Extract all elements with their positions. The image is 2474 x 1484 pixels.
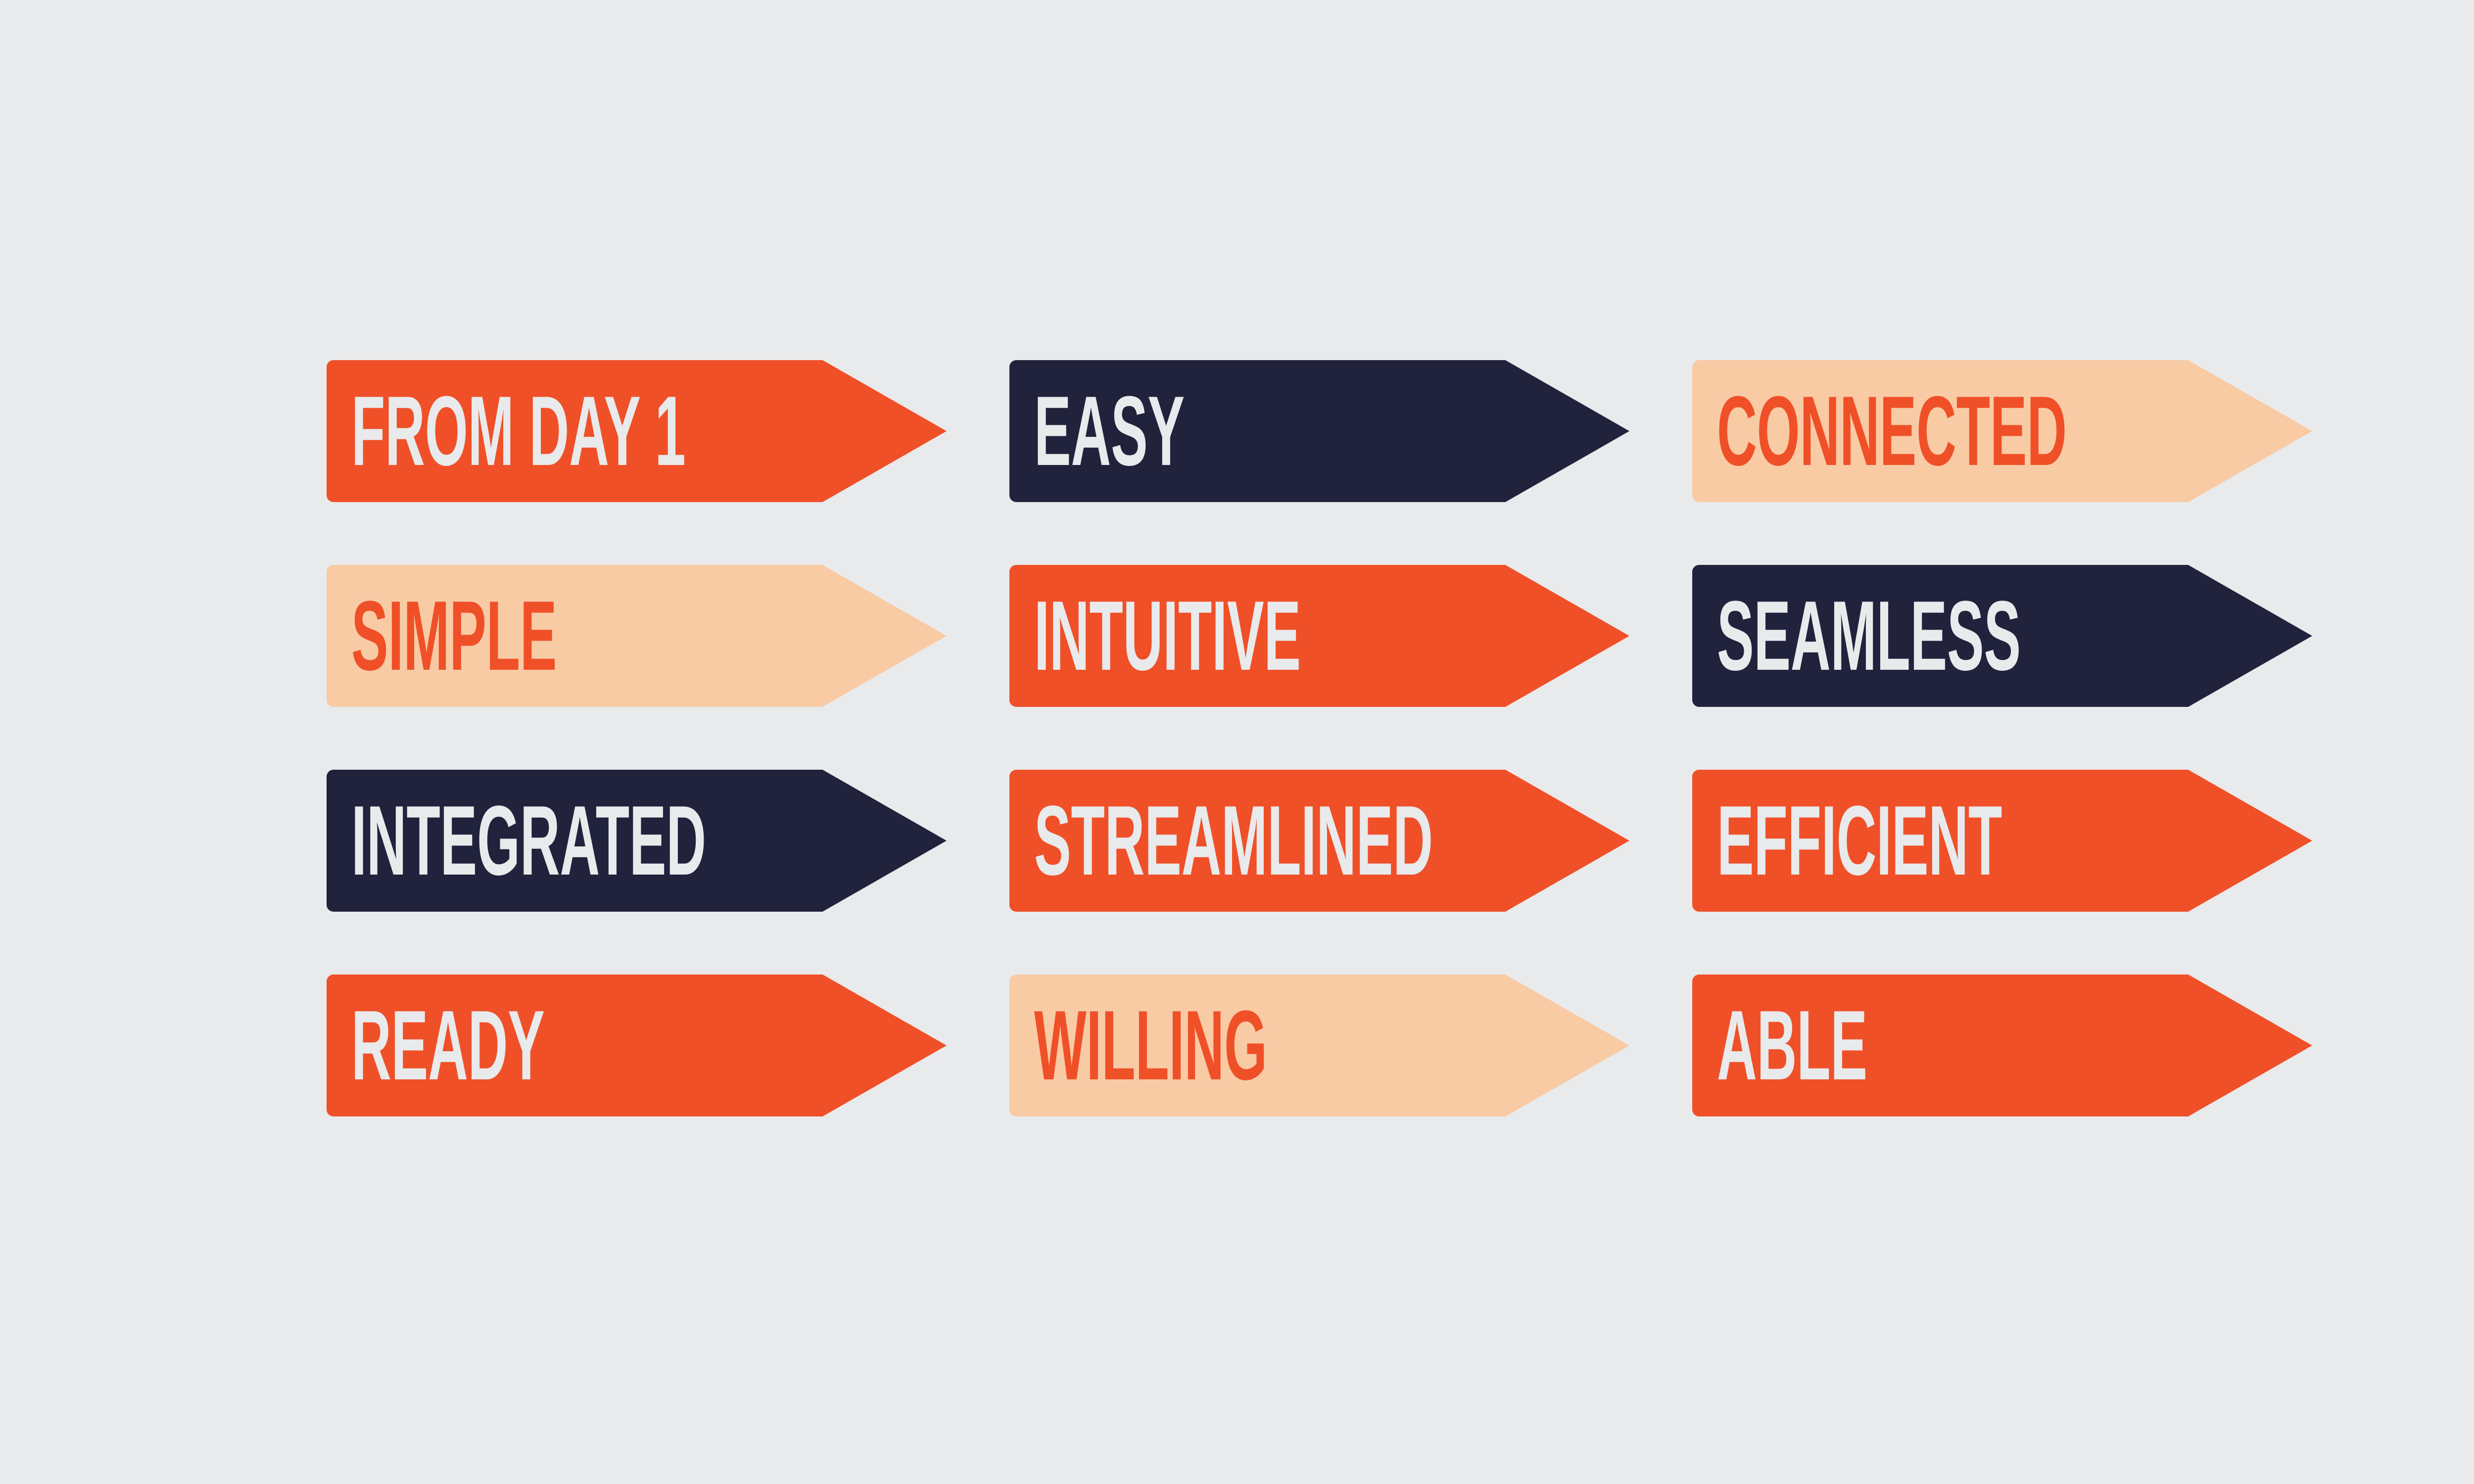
tag-ready[interactable]: READY — [327, 974, 947, 1116]
tag-seamless[interactable]: SEAMLESS — [1692, 565, 2312, 707]
tag-label: CONNECTED — [1717, 390, 2067, 473]
tag-able[interactable]: ABLE — [1692, 974, 2312, 1116]
tag-label: ABLE — [1717, 1004, 1867, 1087]
tag-label: READY — [351, 1004, 545, 1087]
tag-label: WILLING — [1034, 1004, 1267, 1087]
tag-from-day-1[interactable]: FROM DAY 1 — [327, 360, 947, 502]
tag-label: SEAMLESS — [1717, 595, 2021, 678]
tag-willing[interactable]: WILLING — [1009, 974, 1629, 1116]
tag-label: FROM DAY 1 — [351, 390, 686, 473]
tag-label: EFFICIENT — [1717, 799, 2002, 882]
tag-board: FROM DAY 1EASYCONNECTEDSIMPLEINTUITIVESE… — [0, 0, 2474, 1484]
tag-label: INTEGRATED — [351, 799, 706, 882]
tag-label: STREAMLINED — [1034, 799, 1433, 882]
tag-connected[interactable]: CONNECTED — [1692, 360, 2312, 502]
tag-label: EASY — [1034, 390, 1185, 473]
tag-easy[interactable]: EASY — [1009, 360, 1629, 502]
tag-label: SIMPLE — [351, 595, 557, 678]
tag-efficient[interactable]: EFFICIENT — [1692, 770, 2312, 912]
tag-label: INTUITIVE — [1034, 595, 1301, 678]
tag-simple[interactable]: SIMPLE — [327, 565, 947, 707]
tag-streamlined[interactable]: STREAMLINED — [1009, 770, 1629, 912]
tag-intuitive[interactable]: INTUITIVE — [1009, 565, 1629, 707]
tag-integrated[interactable]: INTEGRATED — [327, 770, 947, 912]
